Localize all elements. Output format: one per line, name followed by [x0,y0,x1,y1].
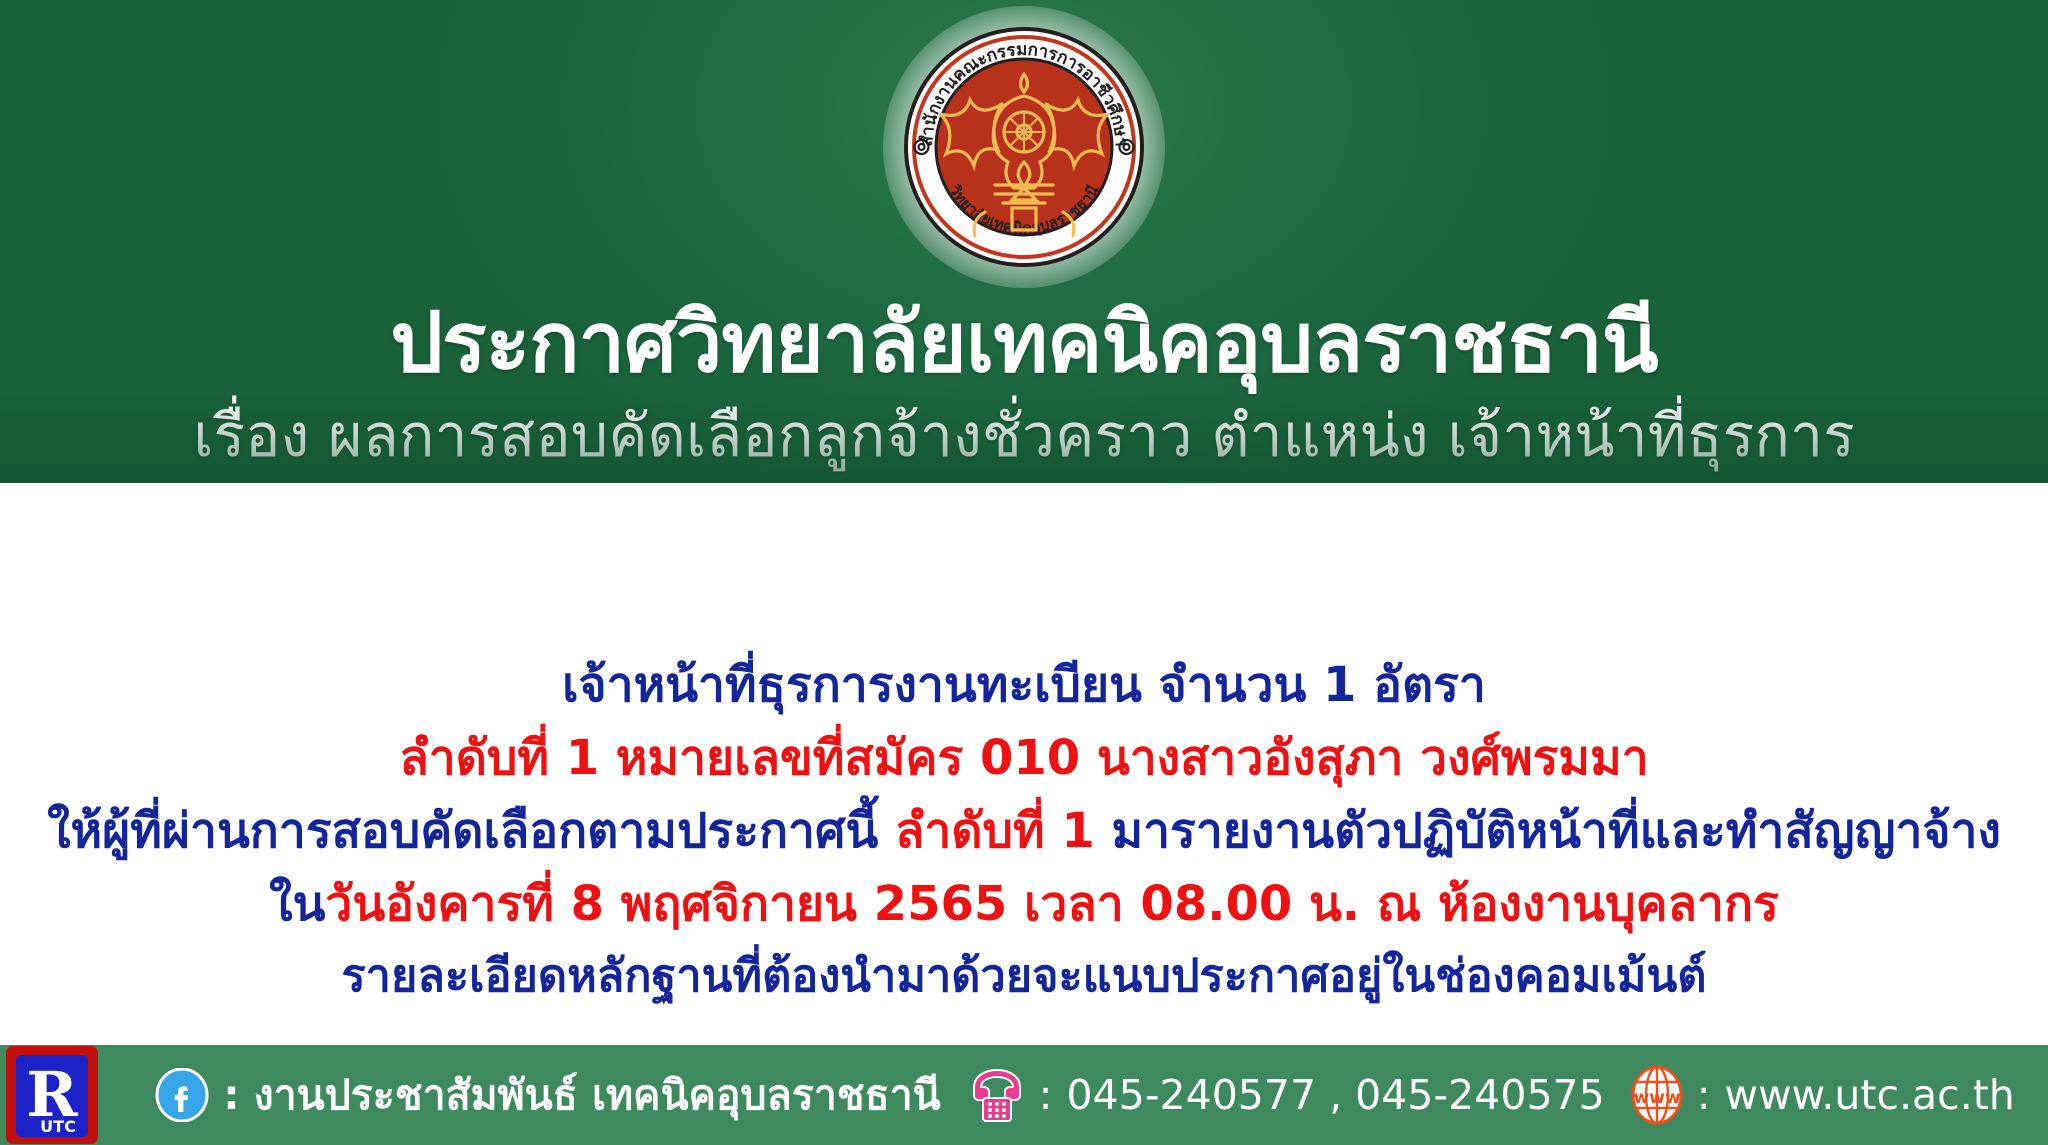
emblem-graphic: สำนักงานคณะกรรมการการอาชีวศึกษา วิทยาลัย… [899,22,1149,272]
phone-separator: : [1039,1071,1053,1119]
facebook-label[interactable]: งานประชาสัมพันธ์ เทคนิคอุบลราชธานี [254,1063,941,1128]
report-instruction-part1: ให้ผู้ที่ผ่านการสอบคัดเลือกตามประกาศนี้ [47,803,895,859]
telephone-icon [969,1066,1025,1124]
globe-www-icon: www [1631,1065,1683,1125]
poster-body: เจ้าหน้าที่ธุรการงานทะเบียน จำนวน 1 อัตร… [0,483,2048,1045]
facebook-icon[interactable] [155,1068,209,1122]
body-line-report-instruction: ให้ผู้ที่ผ่านการสอบคัดเลือกตามประกาศนี้ … [0,807,2048,855]
page-subtitle: เรื่อง ผลการสอบคัดเลือกลูกจ้างชั่วคราว ต… [0,404,2048,468]
ovec-garuda-emblem-icon: สำนักงานคณะกรรมการการอาชีวศึกษา วิทยาลัย… [899,22,1149,272]
body-line-selected-candidate: ลำดับที่ 1 หมายเลขที่สมัคร 010 นางสาวอัง… [0,734,2048,782]
svg-text:www: www [1633,1088,1680,1108]
website-separator: : [1697,1071,1711,1119]
report-datetime-prefix: ใน [269,876,325,932]
footer-contact-row: : งานประชาสัมพันธ์ เทคนิคอุบลราชธานี : 0… [98,1063,2048,1128]
facebook-separator: : [223,1071,239,1119]
page-title: ประกาศวิทยาลัยเทคนิคอุบลราชธานี [0,300,2048,386]
pr-utc-logo: R UTC [6,1046,98,1144]
report-instruction-rank: ลำดับที่ 1 [895,803,1095,859]
body-line-position-count: เจ้าหน้าที่ธุรการงานทะเบียน จำนวน 1 อัตร… [0,661,2048,709]
body-line-documents-note: รายละเอียดหลักฐานที่ต้องนำมาด้วยจะแนบประ… [0,953,2048,998]
website-label[interactable]: www.utc.ac.th [1725,1071,2015,1119]
phone-label: 045-240577 , 045-240575 [1066,1071,1604,1119]
poster-header: สำนักงานคณะกรรมการการอาชีวศึกษา วิทยาลัย… [0,0,2048,483]
report-instruction-part2: มารายงานตัวปฏิบัติหน้าที่และทำสัญญาจ้าง [1095,803,2001,859]
pr-utc-logo-graphic: R UTC [6,1046,98,1144]
pr-logo-sub: UTC [40,1117,76,1136]
body-line-report-datetime: ในวันอังคารที่ 8 พฤศจิกายน 2565 เวลา 08.… [0,880,2048,928]
report-datetime-value: วันอังคารที่ 8 พฤศจิกายน 2565 เวลา 08.00… [325,876,1778,932]
poster-footer: R UTC : งานประชาสัมพันธ์ เทคนิคอุบลราชธา… [0,1045,2048,1145]
announcement-poster: สำนักงานคณะกรรมการการอาชีวศึกษา วิทยาลัย… [0,0,2048,1145]
